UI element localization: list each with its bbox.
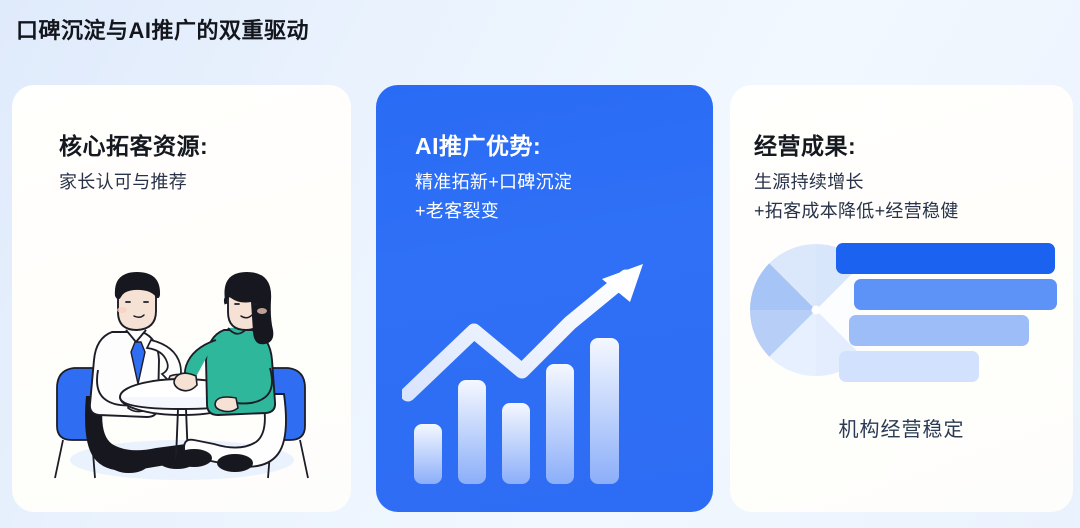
page-title: 口碑沉淀与AI推广的双重驱动 (16, 13, 309, 45)
pie-and-bars-icon (744, 235, 1059, 385)
two-people-at-table-illustration (30, 264, 333, 484)
card-ai-advantage[interactable]: AI推广优势: 精准拓新+口碑沉淀 +老客裂变 (376, 85, 713, 512)
card-heading: 经营成果: (754, 127, 856, 161)
card-subtext-line: 精准拓新+口碑沉淀 (415, 168, 572, 197)
card-heading: AI推广优势: (415, 127, 541, 161)
card-caption: 机构经营稳定 (730, 413, 1073, 442)
growth-arrow-bar-chart-icon (402, 261, 687, 486)
card-heading: 核心拓客资源: (59, 127, 208, 161)
cards-row: 核心拓客资源: 家长认可与推荐 (0, 85, 1080, 528)
card-subtext: 生源持续增长 +拓客成本降低+经营稳健 (754, 168, 959, 226)
card-subtext-line: +拓客成本降低+经营稳健 (754, 197, 959, 226)
card-business-results[interactable]: 经营成果: 生源持续增长 +拓客成本降低+经营稳健 机构经营稳定 (730, 85, 1073, 512)
card-subtext: 精准拓新+口碑沉淀 +老客裂变 (415, 168, 572, 226)
card-subtext-line: +老客裂变 (415, 197, 572, 226)
card-subtext: 家长认可与推荐 (59, 168, 187, 197)
card-core-resources[interactable]: 核心拓客资源: 家长认可与推荐 (12, 85, 351, 512)
card-subtext-line: 家长认可与推荐 (59, 168, 187, 197)
card-subtext-line: 生源持续增长 (754, 168, 959, 197)
